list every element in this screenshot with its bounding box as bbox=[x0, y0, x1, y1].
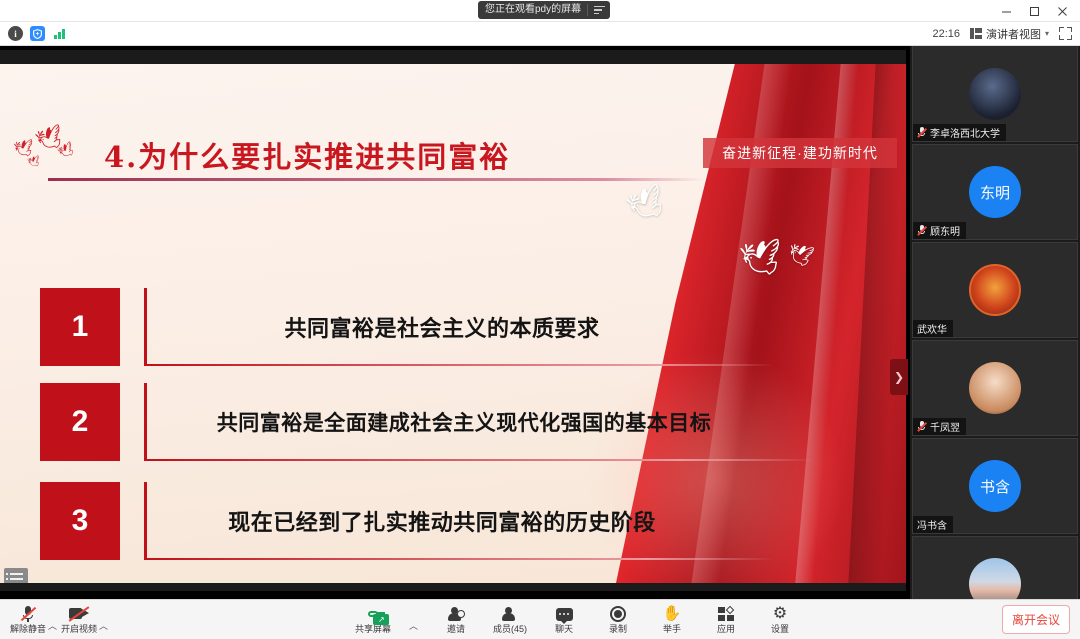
shield-icon[interactable] bbox=[30, 26, 45, 41]
audio-options-caret-icon[interactable]: ︿ bbox=[48, 619, 59, 635]
participants-label: 成员(45) bbox=[493, 624, 527, 635]
raise-hand-button[interactable]: ✋ 举手 bbox=[654, 604, 690, 635]
participant-name: 冯书含 bbox=[917, 517, 947, 532]
meeting-info-bar: i 22:16 演讲者视图 ▾ bbox=[0, 22, 1080, 46]
participant-name: 武欢华 bbox=[917, 321, 947, 336]
raise-hand-label: 举手 bbox=[663, 624, 681, 635]
slide-bottom-band bbox=[0, 583, 906, 591]
toolbar-left-group: 解除静音 ︿ 开启视频 ︿ bbox=[0, 604, 110, 635]
point-underline bbox=[144, 364, 774, 366]
window-title-bar: 您正在观看pdy的屏幕 bbox=[0, 0, 1080, 22]
apps-icon bbox=[718, 604, 734, 624]
share-screen-button[interactable]: ↗ 共享屏幕 bbox=[355, 604, 391, 635]
settings-label: 设置 bbox=[771, 624, 789, 635]
participant-video-strip[interactable]: 李卓洛西北大学 东明 顾东明 武欢华 千凤翌 书含 冯书含 ⌄ bbox=[910, 46, 1080, 599]
participant-name-badge: 李卓洛西北大学 bbox=[913, 124, 1006, 141]
avatar: 东明 bbox=[969, 166, 1021, 218]
participant-tile[interactable]: 千凤翌 bbox=[912, 340, 1078, 436]
info-icon[interactable]: i bbox=[8, 26, 23, 41]
avatar: 书含 bbox=[969, 460, 1021, 512]
avatar bbox=[969, 264, 1021, 316]
participant-tile[interactable]: 李卓洛西北大学 bbox=[912, 46, 1078, 142]
slide-top-band bbox=[0, 50, 906, 64]
participant-tile[interactable]: 东明 顾东明 bbox=[912, 144, 1078, 240]
invite-label: 邀请 bbox=[447, 624, 465, 635]
invite-icon bbox=[448, 604, 464, 624]
slide-title: 4.为什么要扎实推进共同富裕 bbox=[104, 134, 510, 176]
title-underline bbox=[48, 178, 704, 181]
mic-muted-icon bbox=[917, 127, 926, 138]
participant-name-badge: 顾东明 bbox=[913, 222, 966, 239]
point-underline bbox=[144, 459, 816, 461]
apps-label: 应用 bbox=[717, 624, 735, 635]
share-options-caret-icon[interactable]: ︿ bbox=[409, 619, 420, 635]
start-video-button[interactable]: 开启视频 bbox=[61, 604, 97, 635]
settings-button[interactable]: ⚙ 设置 bbox=[762, 604, 798, 635]
point-text: 现在已经到了扎实推动共同富裕的历史阶段 bbox=[144, 482, 740, 560]
fullscreen-icon[interactable] bbox=[1059, 27, 1072, 40]
status-icons: i bbox=[0, 26, 67, 41]
record-button[interactable]: 录制 bbox=[600, 604, 636, 635]
slide-point-row: 1 共同富裕是社会主义的本质要求 bbox=[40, 288, 740, 366]
participant-name: 顾东明 bbox=[930, 223, 960, 238]
chevron-down-icon: ▾ bbox=[1045, 29, 1049, 38]
dove-icon: 🕊 bbox=[738, 239, 785, 279]
view-mode-selector[interactable]: 演讲者视图 ▾ bbox=[970, 26, 1049, 42]
view-controls: 22:16 演讲者视图 ▾ bbox=[932, 26, 1080, 42]
clock: 22:16 bbox=[932, 28, 960, 40]
window-controls bbox=[992, 0, 1076, 22]
record-label: 录制 bbox=[609, 624, 627, 635]
divider bbox=[587, 4, 588, 16]
collapse-panel-button[interactable]: ❯ bbox=[890, 359, 908, 395]
camera-muted-icon bbox=[69, 604, 89, 624]
participant-tile[interactable]: 书含 冯书含 bbox=[912, 438, 1078, 534]
mic-muted-icon bbox=[21, 604, 35, 624]
share-screen-icon: ↗ bbox=[368, 604, 378, 624]
speaker-view-icon bbox=[970, 28, 982, 39]
point-number: 2 bbox=[40, 383, 120, 461]
signal-strength-icon[interactable] bbox=[52, 28, 67, 39]
minimize-icon[interactable] bbox=[992, 0, 1020, 22]
unmute-button[interactable]: 解除静音 bbox=[10, 604, 46, 635]
point-underline bbox=[144, 558, 774, 560]
gear-icon: ⚙ bbox=[773, 604, 787, 624]
apps-button[interactable]: 应用 bbox=[708, 604, 744, 635]
list-menu-icon[interactable] bbox=[594, 6, 605, 15]
mic-muted-icon bbox=[917, 225, 926, 236]
avatar bbox=[969, 68, 1021, 120]
dove-icon: 🕊 bbox=[786, 244, 815, 269]
toolbar-right-group: 离开会议 bbox=[1002, 605, 1080, 634]
start-video-label: 开启视频 bbox=[61, 624, 97, 635]
presentation-slide: 🕊 🕊 🕊 🕊 🕊 🕊 🕊 4.为什么要扎实推进共同富裕 奋进新征程·建功新时代… bbox=[0, 50, 906, 591]
leave-meeting-button[interactable]: 离开会议 bbox=[1002, 605, 1070, 634]
shared-screen-stage[interactable]: 🕊 🕊 🕊 🕊 🕊 🕊 🕊 4.为什么要扎实推进共同富裕 奋进新征程·建功新时代… bbox=[0, 46, 910, 599]
participant-name: 李卓洛西北大学 bbox=[930, 125, 1000, 140]
maximize-icon[interactable] bbox=[1020, 0, 1048, 22]
point-text: 共同富裕是全面建成社会主义现代化强国的基本目标 bbox=[144, 383, 784, 461]
participant-name-badge: 武欢华 bbox=[913, 320, 953, 337]
point-number: 3 bbox=[40, 482, 120, 560]
close-icon[interactable] bbox=[1048, 0, 1076, 22]
participants-button[interactable]: 成员(45) bbox=[492, 604, 528, 635]
point-text: 共同富裕是社会主义的本质要求 bbox=[144, 288, 740, 366]
toolbar-center-group: ↗ 共享屏幕 ︿ 邀请 成员(45) 聊天 录制 bbox=[355, 604, 798, 635]
participant-name: 千凤翌 bbox=[930, 419, 960, 434]
screen-share-notice-text: 您正在观看pdy的屏幕 bbox=[485, 1, 581, 19]
mic-muted-icon bbox=[917, 421, 926, 432]
slide-point-row: 2 共同富裕是全面建成社会主义现代化强国的基本目标 bbox=[40, 383, 740, 461]
raise-hand-icon: ✋ bbox=[663, 604, 682, 624]
unmute-label: 解除静音 bbox=[10, 624, 46, 635]
view-mode-label: 演讲者视图 bbox=[986, 26, 1041, 42]
chat-button[interactable]: 聊天 bbox=[546, 604, 582, 635]
avatar bbox=[969, 362, 1021, 414]
screen-share-notice[interactable]: 您正在观看pdy的屏幕 bbox=[478, 1, 610, 19]
participants-icon bbox=[502, 604, 518, 624]
invite-button[interactable]: 邀请 bbox=[438, 604, 474, 635]
red-birds-icon: 🕊 🕊 🕊 🕊 bbox=[10, 128, 100, 178]
slide-point-row: 3 现在已经到了扎实推动共同富裕的历史阶段 bbox=[40, 482, 740, 560]
point-number: 1 bbox=[40, 288, 120, 366]
record-icon bbox=[610, 604, 626, 624]
participant-name-badge: 冯书含 bbox=[913, 516, 953, 533]
share-screen-label: 共享屏幕 bbox=[355, 624, 391, 635]
participant-name-badge: 千凤翌 bbox=[913, 418, 966, 435]
slide-badge: 奋进新征程·建功新时代 bbox=[703, 138, 897, 168]
chat-label: 聊天 bbox=[555, 624, 573, 635]
chat-icon bbox=[556, 604, 573, 624]
meeting-toolbar: 解除静音 ︿ 开启视频 ︿ ↗ 共享屏幕 ︿ 邀请 bbox=[0, 599, 1080, 639]
participant-tile[interactable]: 武欢华 bbox=[912, 242, 1078, 338]
video-options-caret-icon[interactable]: ︿ bbox=[99, 619, 110, 635]
